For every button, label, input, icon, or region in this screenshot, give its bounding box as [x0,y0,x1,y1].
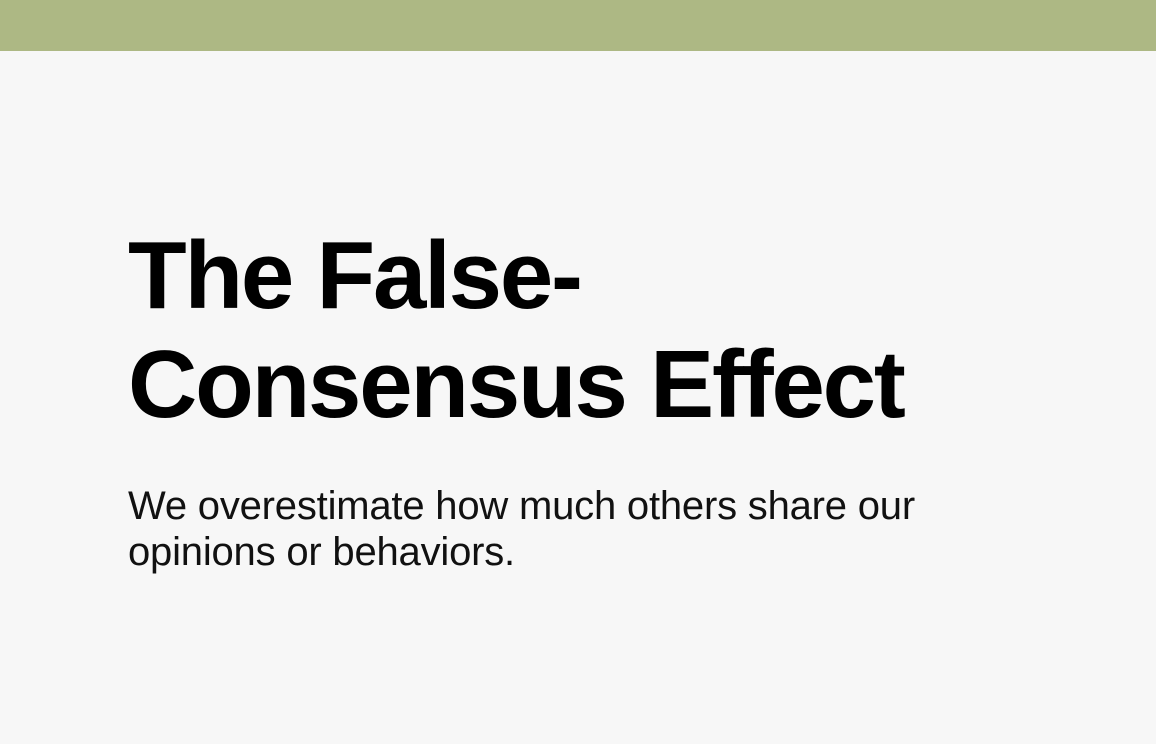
top-accent-bar [0,0,1156,51]
slide-content-block: The False-Consensus Effect We overestima… [128,51,958,744]
slide-title: The False-Consensus Effect [128,221,958,439]
slide-subtitle: We overestimate how much others share ou… [128,483,946,575]
presentation-slide: The False-Consensus Effect We overestima… [0,0,1156,744]
